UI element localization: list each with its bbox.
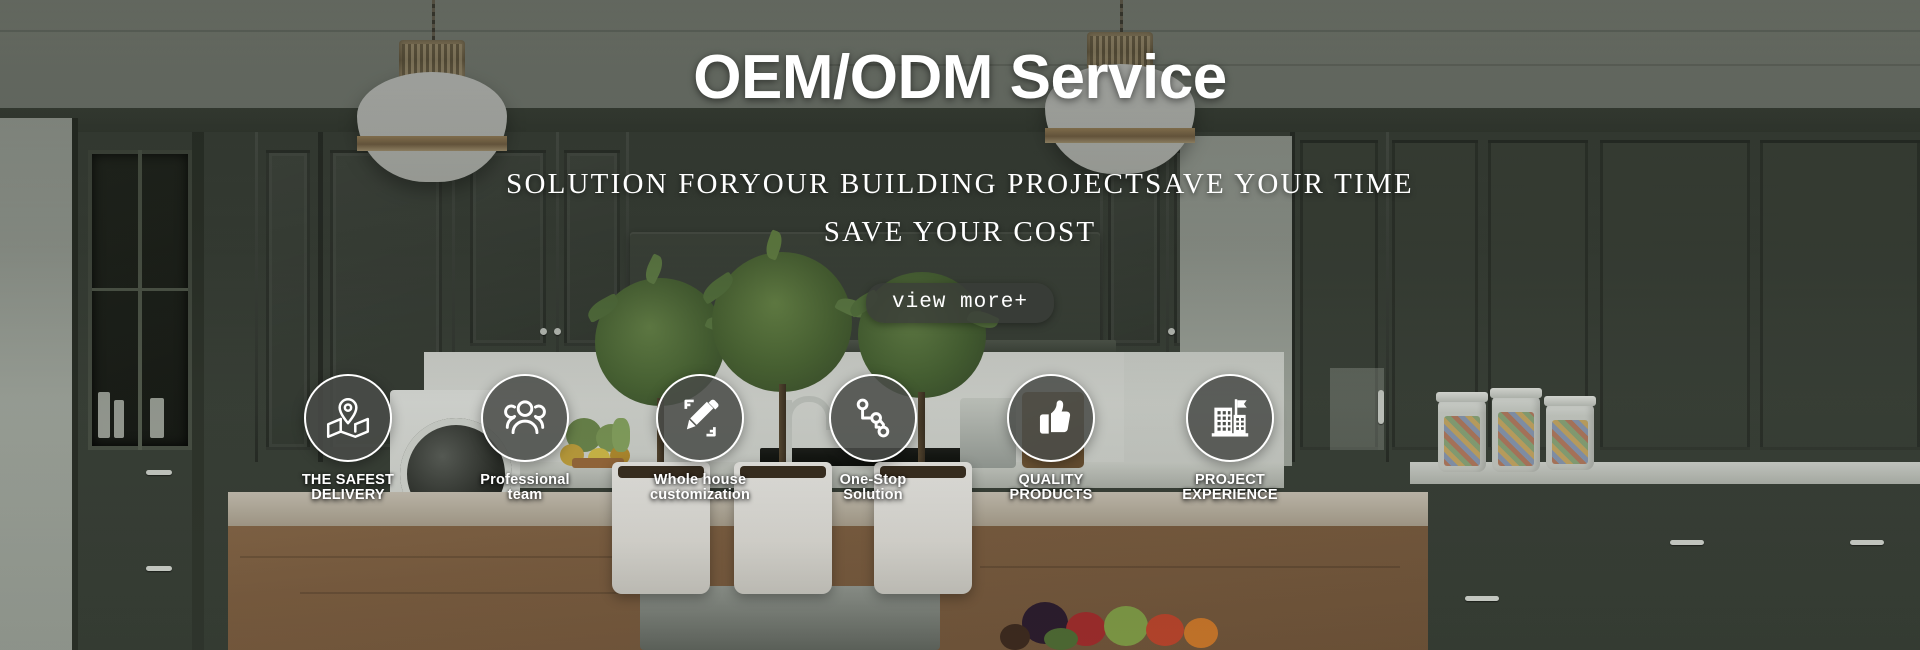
- feature-label: Professional team: [440, 473, 610, 503]
- banner-content: OEM/ODM Service SOLUTION FORYOUR BUILDIN…: [0, 0, 1920, 650]
- workflow-nodes-icon: [848, 393, 898, 443]
- feature-label-line2: customization: [615, 488, 785, 503]
- feature-item-professional-team[interactable]: Professional team: [440, 374, 610, 503]
- feature-item-the-safest-delivery[interactable]: THE SAFEST DELIVERY: [263, 374, 433, 503]
- map-pin-icon: [323, 393, 373, 443]
- feature-item-whole-house-customization[interactable]: Whole house customization: [615, 374, 785, 503]
- feature-item-project-experience[interactable]: PROJECT EXPERIENCE: [1145, 374, 1315, 503]
- view-more-button[interactable]: view more+: [866, 283, 1054, 323]
- feature-label-line2: PRODUCTS: [966, 488, 1136, 503]
- subtitle-line-1: SOLUTION FORYOUR BUILDING PROJECTSAVE YO…: [506, 168, 1414, 200]
- feature-label-line1: Whole house: [615, 473, 785, 488]
- feature-label-line2: DELIVERY: [263, 488, 433, 503]
- feature-item-quality-products[interactable]: QUALITY PRODUCTS: [966, 374, 1136, 503]
- feature-label-line1: One-Stop: [788, 473, 958, 488]
- page-title: OEM/ODM Service: [0, 42, 1920, 113]
- feature-icon-circle[interactable]: [481, 374, 569, 462]
- feature-label-line1: THE SAFEST: [263, 473, 433, 488]
- feature-icon-circle[interactable]: [829, 374, 917, 462]
- feature-item-one-stop-solution[interactable]: One-Stop Solution: [788, 374, 958, 503]
- buildings-flag-icon: [1205, 393, 1255, 443]
- feature-icon-circle[interactable]: [1007, 374, 1095, 462]
- feature-icon-circle[interactable]: [304, 374, 392, 462]
- feature-list: THE SAFEST DELIVERY Professio: [0, 374, 1920, 504]
- feature-label-line1: PROJECT: [1145, 473, 1315, 488]
- subtitle-line-2: SAVE YOUR COST: [0, 208, 1920, 256]
- feature-label: PROJECT EXPERIENCE: [1145, 473, 1315, 503]
- feature-label: QUALITY PRODUCTS: [966, 473, 1136, 503]
- feature-label-line1: Professional: [440, 473, 610, 488]
- pencil-ruler-icon: [675, 393, 725, 443]
- feature-label-line2: Solution: [788, 488, 958, 503]
- feature-label: Whole house customization: [615, 473, 785, 503]
- feature-label: THE SAFEST DELIVERY: [263, 473, 433, 503]
- feature-icon-circle[interactable]: [1186, 374, 1274, 462]
- feature-label-line1: QUALITY: [966, 473, 1136, 488]
- oem-odm-service-banner: OEM/ODM Service SOLUTION FORYOUR BUILDIN…: [0, 0, 1920, 650]
- people-group-icon: [500, 393, 550, 443]
- feature-icon-circle[interactable]: [656, 374, 744, 462]
- feature-label-line2: EXPERIENCE: [1145, 488, 1315, 503]
- feature-label-line2: team: [440, 488, 610, 503]
- banner-subtitle: SOLUTION FORYOUR BUILDING PROJECTSAVE YO…: [0, 160, 1920, 256]
- feature-label: One-Stop Solution: [788, 473, 958, 503]
- thumbs-up-icon: [1026, 393, 1076, 443]
